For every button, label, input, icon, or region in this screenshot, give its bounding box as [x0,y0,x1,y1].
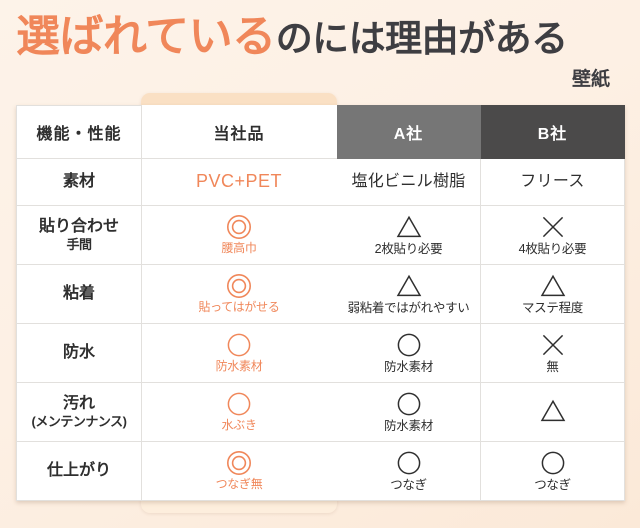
cross-icon [540,332,566,358]
cell-caption: PVC+PET [196,171,282,191]
row-label-1: 素材 [17,159,142,206]
cell-caption: 防水素材 [142,360,336,374]
circle-icon [540,450,566,476]
table-row: 貼り合わせ手間腰高巾2枚貼り必要4枚貼り必要 [17,206,625,265]
row-label-main: 汚れ [63,395,95,412]
table-row: 防水防水素材防水素材無 [17,324,625,383]
cell-caption: 貼ってはがせる [142,301,336,315]
cell-own-product-row3: 貼ってはがせる [142,265,337,324]
cell-caption: フリース [520,173,584,190]
rating-mark [481,273,624,299]
table-row: 粘着貼ってはがせる弱粘着ではがれやすいマステ程度 [17,265,625,324]
double-circle-icon [226,214,252,240]
comparison-table-area: 機能・性能 当社品 A社 B社 素材PVC+PET塩化ビニル樹脂フリース貼り合わ… [16,105,624,501]
table-header-row: 機能・性能 当社品 A社 B社 [17,106,625,159]
cell-company-a-row1: 塩化ビニル樹脂 [337,159,481,206]
cell-caption: 2枚貼り必要 [337,242,480,256]
row-label-main: 防水 [63,344,95,361]
cell-caption: 弱粘着ではがれやすい [337,301,480,315]
rating-mark [142,391,336,417]
cell-caption: 腰高巾 [142,242,336,256]
cell-caption: 水ぶき [142,419,336,433]
cell-caption: 塩化ビニル樹脂 [351,173,465,190]
cell-company-a-row5: 防水素材 [337,383,481,442]
rating-mark [481,332,624,358]
circle-icon [396,391,422,417]
rating-mark [142,214,336,240]
cell-caption: 防水素材 [337,360,480,374]
circle-icon [226,391,252,417]
cell-caption: 4枚貼り必要 [481,242,624,256]
cell-caption: 無 [481,360,624,374]
column-header-company-b: B社 [481,106,625,159]
triangle-icon [396,273,422,299]
cell-caption: マステ程度 [481,301,624,315]
cell-own-product-row4: 防水素材 [142,324,337,383]
circle-icon [396,332,422,358]
triangle-icon [396,214,422,240]
cell-company-b-row5 [481,383,625,442]
column-header-company-a: A社 [337,106,481,159]
row-label-5: 汚れ(メンテンナンス) [17,383,142,442]
cell-company-a-row4: 防水素材 [337,324,481,383]
cell-company-a-row6: つなぎ [337,442,481,501]
double-circle-icon [226,450,252,476]
rating-mark [142,332,336,358]
cell-company-b-row1: フリース [481,159,625,206]
headline-rest-text: のには理由がある [276,19,568,60]
page-subtitle: 壁紙 [16,64,624,91]
row-label-2: 貼り合わせ手間 [17,206,142,265]
table-row: 素材PVC+PET塩化ビニル樹脂フリース [17,159,625,206]
row-label-6: 仕上がり [17,442,142,501]
double-circle-icon [226,273,252,299]
cell-caption: つなぎ [481,478,624,492]
triangle-icon [540,273,566,299]
cell-caption: つなぎ [337,478,480,492]
row-label-sub: (メンテンナンス) [17,414,141,430]
cell-caption: 防水素材 [337,419,480,433]
rating-mark [481,450,624,476]
row-label-sub: 手間 [17,237,141,253]
row-label-main: 貼り合わせ [39,218,119,235]
rating-mark [337,214,480,240]
cell-own-product-row6: つなぎ無 [142,442,337,501]
row-label-4: 防水 [17,324,142,383]
comparison-table: 機能・性能 当社品 A社 B社 素材PVC+PET塩化ビニル樹脂フリース貼り合わ… [16,105,625,501]
circle-icon [396,450,422,476]
table-body: 素材PVC+PET塩化ビニル樹脂フリース貼り合わせ手間腰高巾2枚貼り必要4枚貼り… [17,159,625,501]
page-title: 選ばれているのには理由がある [16,14,624,60]
rating-mark [337,450,480,476]
rating-mark [337,273,480,299]
column-header-feature: 機能・性能 [17,106,142,159]
table-row: 汚れ(メンテンナンス)水ぶき防水素材 [17,383,625,442]
rating-mark [337,332,480,358]
row-label-main: 仕上がり [47,462,111,479]
triangle-icon [540,398,566,424]
cell-company-b-row3: マステ程度 [481,265,625,324]
rating-mark [142,450,336,476]
rating-mark [481,214,624,240]
cell-company-a-row2: 2枚貼り必要 [337,206,481,265]
table-row: 仕上がりつなぎ無つなぎつなぎ [17,442,625,501]
cell-own-product-row5: 水ぶき [142,383,337,442]
row-label-main: 粘着 [63,285,95,302]
page-header: 選ばれているのには理由がある 壁紙 [0,0,640,91]
cross-icon [540,214,566,240]
circle-icon [226,332,252,358]
cell-company-b-row4: 無 [481,324,625,383]
headline-accent-text: 選ばれている [16,12,276,61]
rating-mark [142,273,336,299]
row-label-3: 粘着 [17,265,142,324]
column-header-own-product: 当社品 [142,106,337,159]
cell-company-a-row3: 弱粘着ではがれやすい [337,265,481,324]
rating-mark [481,398,624,424]
rating-mark [337,391,480,417]
row-label-main: 素材 [63,173,95,190]
cell-own-product-row1: PVC+PET [142,159,337,206]
cell-own-product-row2: 腰高巾 [142,206,337,265]
cell-company-b-row6: つなぎ [481,442,625,501]
cell-company-b-row2: 4枚貼り必要 [481,206,625,265]
cell-caption: つなぎ無 [142,478,336,492]
